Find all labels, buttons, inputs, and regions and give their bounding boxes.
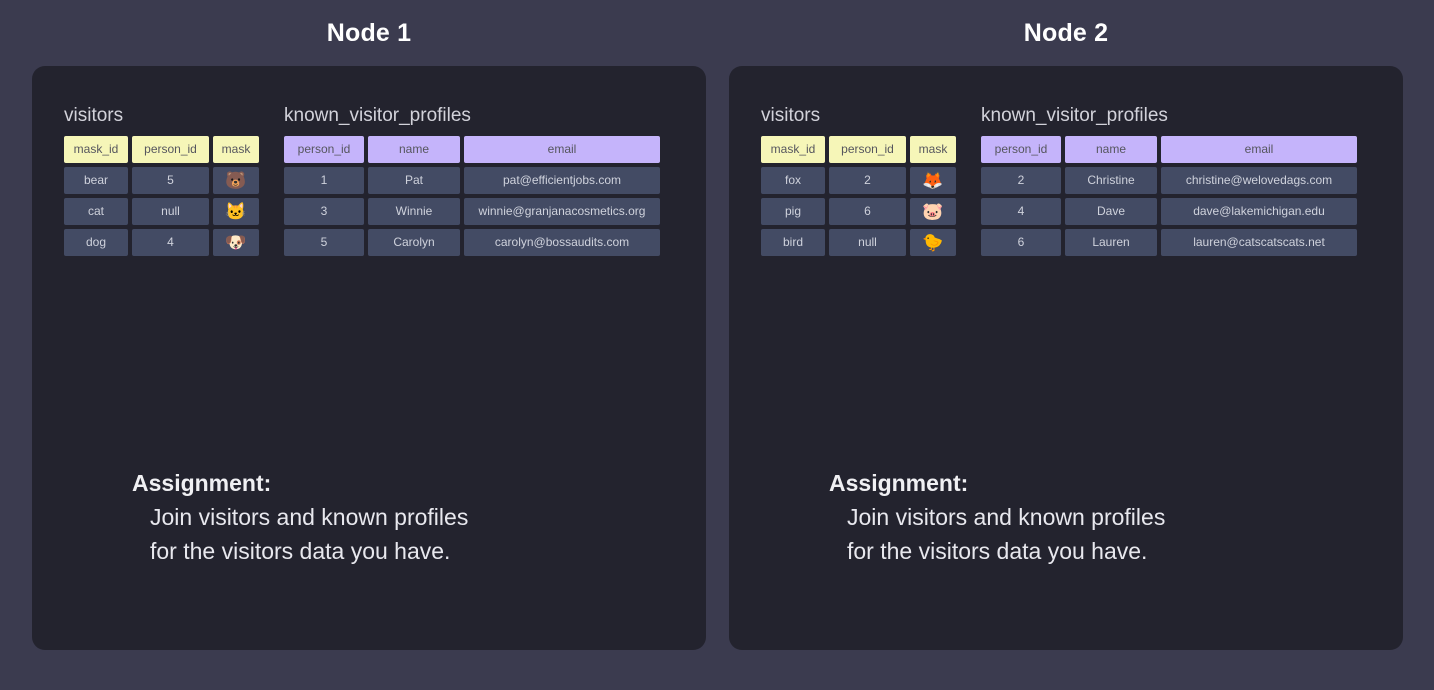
cell-mask-id: pig bbox=[761, 198, 825, 225]
cell-email: christine@welovedags.com bbox=[1161, 167, 1357, 194]
cell-person-id: 1 bbox=[284, 167, 364, 194]
table-row: pig 6 🐷 bbox=[761, 198, 956, 225]
cell-mask-id: cat bbox=[64, 198, 128, 225]
assignment-line-2: for the visitors data you have. bbox=[829, 534, 1349, 568]
column-header-name: name bbox=[368, 136, 460, 163]
column-header-mask: mask bbox=[213, 136, 259, 163]
cell-person-id: 5 bbox=[132, 167, 209, 194]
cell-name: Pat bbox=[368, 167, 460, 194]
bear-face-icon: 🐻 bbox=[213, 167, 259, 194]
tables-area-2: visitors mask_id person_id mask fox 2 🦊 bbox=[729, 104, 1403, 304]
cell-email: pat@efficientjobs.com bbox=[464, 167, 660, 194]
column-header-person-id: person_id bbox=[829, 136, 906, 163]
dog-face-icon: 🐶 bbox=[213, 229, 259, 256]
column-header-name: name bbox=[1065, 136, 1157, 163]
assignment-line-1: Join visitors and known profiles bbox=[829, 500, 1349, 534]
column-header-person-id: person_id bbox=[981, 136, 1061, 163]
visitors-table-caption-1: visitors bbox=[64, 104, 259, 128]
node-title-2: Node 2 bbox=[729, 0, 1403, 66]
visitors-grid-2: mask_id person_id mask fox 2 🦊 pig 6 bbox=[761, 136, 956, 256]
table-row: fox 2 🦊 bbox=[761, 167, 956, 194]
cell-person-id: null bbox=[829, 229, 906, 256]
pig-face-icon: 🐷 bbox=[910, 198, 956, 225]
node-card-2: visitors mask_id person_id mask fox 2 🦊 bbox=[729, 66, 1403, 650]
table-row: bird null 🐤 bbox=[761, 229, 956, 256]
node-title-1: Node 1 bbox=[32, 0, 706, 66]
table-header-row: mask_id person_id mask bbox=[64, 136, 259, 163]
column-header-email: email bbox=[464, 136, 660, 163]
cell-email: winnie@granjanacosmetics.org bbox=[464, 198, 660, 225]
table-row: 2 Christine christine@welovedags.com bbox=[981, 167, 1357, 194]
column-header-person-id: person_id bbox=[284, 136, 364, 163]
column-header-mask-id: mask_id bbox=[761, 136, 825, 163]
cell-person-id: 3 bbox=[284, 198, 364, 225]
profiles-grid-2: person_id name email 2 Christine christi… bbox=[981, 136, 1357, 256]
table-row: 3 Winnie winnie@granjanacosmetics.org bbox=[284, 198, 660, 225]
cell-mask-id: bear bbox=[64, 167, 128, 194]
profiles-table-1: known_visitor_profiles person_id name em… bbox=[284, 104, 660, 256]
table-row: cat null 🐱 bbox=[64, 198, 259, 225]
cell-name: Carolyn bbox=[368, 229, 460, 256]
cell-person-id: 2 bbox=[829, 167, 906, 194]
cell-name: Christine bbox=[1065, 167, 1157, 194]
cell-mask-id: fox bbox=[761, 167, 825, 194]
table-row: 4 Dave dave@lakemichigan.edu bbox=[981, 198, 1357, 225]
column-header-email: email bbox=[1161, 136, 1357, 163]
table-row: bear 5 🐻 bbox=[64, 167, 259, 194]
cell-email: carolyn@bossaudits.com bbox=[464, 229, 660, 256]
diagram-stage: Node 1 visitors mask_id person_id mask b… bbox=[0, 0, 1434, 690]
profiles-table-2: known_visitor_profiles person_id name em… bbox=[981, 104, 1357, 256]
assignment-line-2: for the visitors data you have. bbox=[132, 534, 652, 568]
assignment-label: Assignment: bbox=[829, 466, 1349, 500]
cell-person-id: 6 bbox=[981, 229, 1061, 256]
cat-face-icon: 🐱 bbox=[213, 198, 259, 225]
tables-area-1: visitors mask_id person_id mask bear 5 🐻 bbox=[32, 104, 706, 304]
table-row: 1 Pat pat@efficientjobs.com bbox=[284, 167, 660, 194]
table-row: dog 4 🐶 bbox=[64, 229, 259, 256]
table-header-row: mask_id person_id mask bbox=[761, 136, 956, 163]
assignment-block-1: Assignment: Join visitors and known prof… bbox=[132, 466, 652, 568]
assignment-block-2: Assignment: Join visitors and known prof… bbox=[829, 466, 1349, 568]
profiles-grid-1: person_id name email 1 Pat pat@efficient… bbox=[284, 136, 660, 256]
cell-name: Lauren bbox=[1065, 229, 1157, 256]
node-card-1: visitors mask_id person_id mask bear 5 🐻 bbox=[32, 66, 706, 650]
cell-person-id: null bbox=[132, 198, 209, 225]
node-panel-1: Node 1 visitors mask_id person_id mask b… bbox=[32, 0, 706, 690]
cell-person-id: 5 bbox=[284, 229, 364, 256]
assignment-line-1: Join visitors and known profiles bbox=[132, 500, 652, 534]
cell-email: dave@lakemichigan.edu bbox=[1161, 198, 1357, 225]
cell-name: Dave bbox=[1065, 198, 1157, 225]
cell-name: Winnie bbox=[368, 198, 460, 225]
visitors-table-1: visitors mask_id person_id mask bear 5 🐻 bbox=[64, 104, 259, 256]
node-panel-2: Node 2 visitors mask_id person_id mask f… bbox=[729, 0, 1403, 690]
column-header-mask-id: mask_id bbox=[64, 136, 128, 163]
cell-email: lauren@catscatscats.net bbox=[1161, 229, 1357, 256]
cell-mask-id: bird bbox=[761, 229, 825, 256]
visitors-table-2: visitors mask_id person_id mask fox 2 🦊 bbox=[761, 104, 956, 256]
cell-person-id: 4 bbox=[132, 229, 209, 256]
visitors-grid-1: mask_id person_id mask bear 5 🐻 cat null bbox=[64, 136, 259, 256]
table-header-row: person_id name email bbox=[981, 136, 1357, 163]
profiles-table-caption-1: known_visitor_profiles bbox=[284, 104, 660, 128]
visitors-table-caption-2: visitors bbox=[761, 104, 956, 128]
table-header-row: person_id name email bbox=[284, 136, 660, 163]
profiles-table-caption-2: known_visitor_profiles bbox=[981, 104, 1357, 128]
column-header-person-id: person_id bbox=[132, 136, 209, 163]
table-row: 5 Carolyn carolyn@bossaudits.com bbox=[284, 229, 660, 256]
table-row: 6 Lauren lauren@catscatscats.net bbox=[981, 229, 1357, 256]
cell-person-id: 4 bbox=[981, 198, 1061, 225]
cell-mask-id: dog bbox=[64, 229, 128, 256]
cell-person-id: 2 bbox=[981, 167, 1061, 194]
fox-face-icon: 🦊 bbox=[910, 167, 956, 194]
cell-person-id: 6 bbox=[829, 198, 906, 225]
column-header-mask: mask bbox=[910, 136, 956, 163]
baby-chick-icon: 🐤 bbox=[910, 229, 956, 256]
assignment-label: Assignment: bbox=[132, 466, 652, 500]
